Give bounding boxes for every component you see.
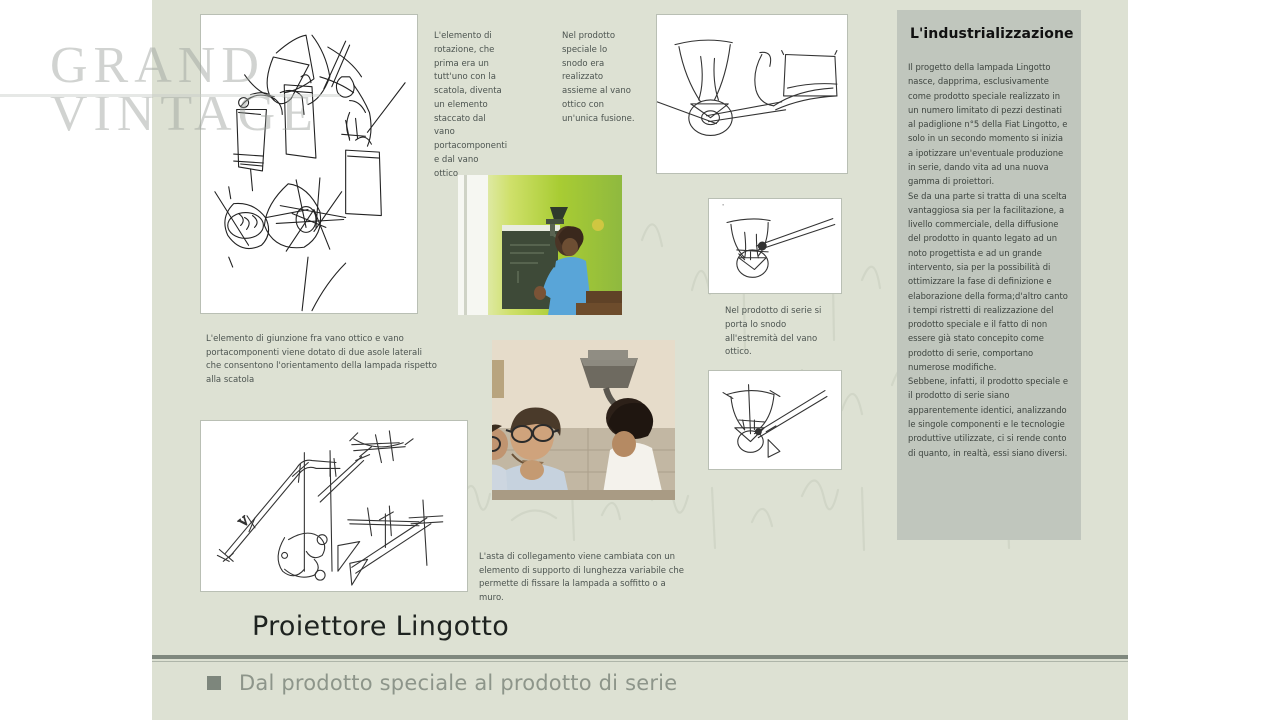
hand-sketch-optical-housing xyxy=(709,199,841,293)
sketch-card-reflector-arm xyxy=(656,14,848,174)
photo-two-men-under-lamp xyxy=(492,340,675,500)
caption-snodo-speciale: Nel prodotto speciale lo snodo era reali… xyxy=(562,30,648,126)
caption-asta: L'asta di collegamento viene cambiata co… xyxy=(479,551,691,605)
divider-thin xyxy=(152,661,1128,662)
industrializzazione-panel: L'industrializzazione Il progetto della … xyxy=(897,10,1081,540)
panel-title: L'industrializzazione xyxy=(910,26,1070,42)
hand-sketch-rotation-joint xyxy=(201,15,417,313)
photo-man-drawing-on-board xyxy=(458,175,622,315)
page-title: Proiettore Lingotto xyxy=(252,611,509,642)
caption-rotazione: L'elemento di rotazione, che prima era u… xyxy=(434,30,518,181)
square-marker-icon xyxy=(207,676,221,690)
caption-giunzione: L'elemento di giunzione fra vano ottico … xyxy=(206,333,452,387)
panel-body: Il progetto della lampada Lingotto nasce… xyxy=(908,60,1070,460)
bullet-label: Dal prodotto speciale al prodotto di ser… xyxy=(239,671,677,695)
bullet-row: Dal prodotto speciale al prodotto di ser… xyxy=(207,671,677,695)
hand-sketch-series-joint xyxy=(709,371,841,469)
hand-sketch-reflector-arm xyxy=(657,15,847,173)
sketch-card-rotation xyxy=(200,14,418,314)
hand-sketch-support-rod: V xyxy=(201,421,467,591)
sketch-card-support-rod: V xyxy=(200,420,468,592)
sketch-card-series-joint xyxy=(708,370,842,470)
divider-thick xyxy=(152,655,1128,659)
title-zone: Proiettore Lingotto Dal prodotto special… xyxy=(152,605,1128,720)
slide-canvas: L'elemento di rotazione, che prima era u… xyxy=(152,0,1128,720)
caption-serie-snodo: Nel prodotto di serie si porta lo snodo … xyxy=(725,305,835,360)
sketch-card-optical-housing xyxy=(708,198,842,294)
